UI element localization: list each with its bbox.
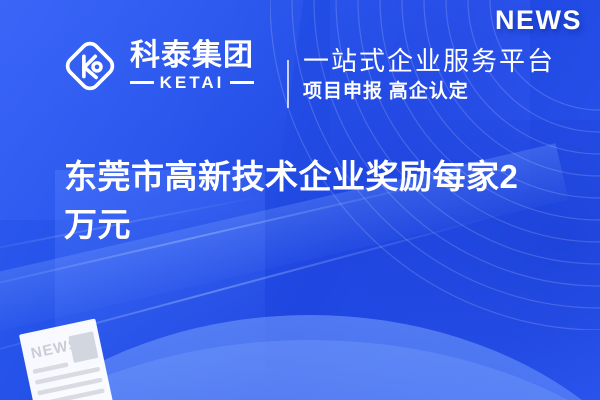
brand-logo[interactable]: 科泰集团 KETAI [62,38,254,94]
wordmark-dash-right [230,81,254,84]
news-label: NEWS [495,7,582,34]
header-divider [287,60,289,108]
wordmark-dash-left [130,81,154,84]
news-banner: 科泰集团 KETAI 一站式企业服务平台 项目申报 高企认定 NEWS 东莞市高… [0,0,600,400]
brand-wordmark: 科泰集团 KETAI [130,41,254,91]
ketai-diamond-k-logo-icon [62,38,118,94]
brand-name-en: KETAI [160,74,225,91]
brand-name-cn: 科泰集团 [130,41,254,71]
tagline-secondary: 项目申报 高企认定 [303,81,555,104]
header-tagline: 一站式企业服务平台 项目申报 高企认定 [303,47,555,104]
brand-name-en-row: KETAI [130,74,254,91]
banner-header: 科泰集团 KETAI 一站式企业服务平台 项目申报 高企认定 NEWS [0,0,600,140]
newspaper-icon: NEWS [12,316,116,400]
page-title: 东莞市高新技术企业奖励每家2万元 [64,153,544,249]
tagline-primary: 一站式企业服务平台 [303,47,555,77]
